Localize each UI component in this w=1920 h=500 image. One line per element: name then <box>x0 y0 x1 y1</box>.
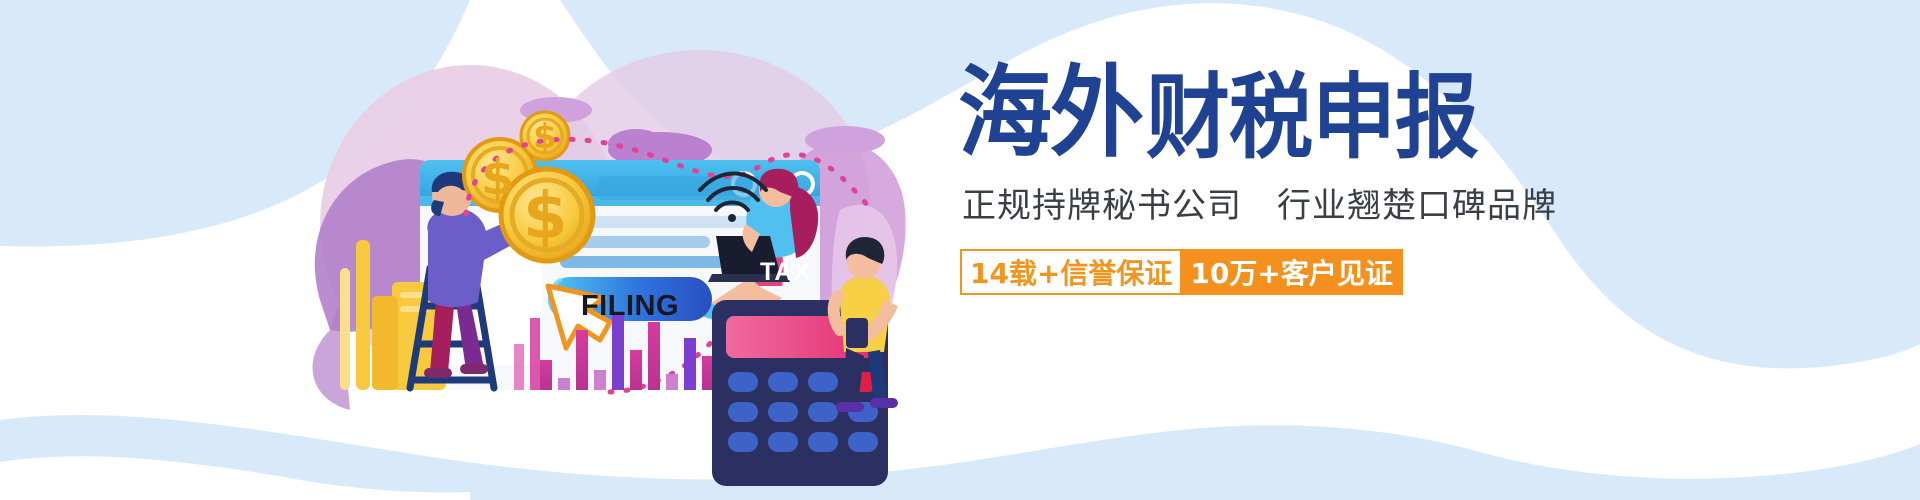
banner-subtitle: 正规持牌秘书公司 行业翘楚口碑品牌 <box>962 178 1658 227</box>
banner-text-block: 海外财税申报 正规持牌秘书公司 行业翘楚口碑品牌 14载+信誉保证 10万+客户… <box>958 70 1658 295</box>
headline-part-1: 海外 <box>958 64 1142 164</box>
status-badge-credit: 14载+信誉保证 <box>960 249 1182 295</box>
status-badge-customers: 10万+客户见证 <box>1182 249 1402 295</box>
page-title: 海外财税申报 <box>958 70 1658 164</box>
badge-group: 14载+信誉保证 10万+客户见证 <box>960 249 1348 295</box>
promo-banner: FILING TAX $ $ $ 海外财税申报 正规持牌秘书公司 行业翘楚口碑品… <box>0 0 1920 500</box>
headline-part-2: 财税申报 <box>1142 72 1478 164</box>
